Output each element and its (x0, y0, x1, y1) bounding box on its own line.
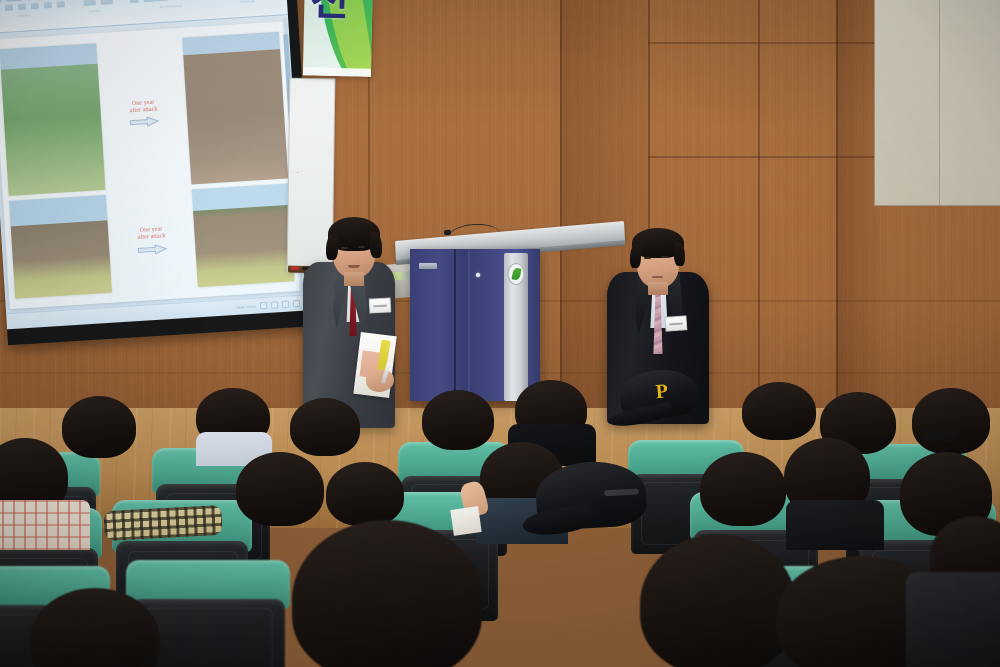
slide: One year after attack One year after att… (0, 21, 301, 309)
ribbon-group-label: Animations (159, 3, 182, 9)
speaker-left-eye (358, 246, 365, 248)
slide-photo-before-top (0, 43, 106, 196)
audience-head (326, 462, 404, 526)
ribbon-group-label: Review (240, 0, 255, 4)
reading-view-icon[interactable] (282, 301, 289, 308)
speaker-left-neck (344, 272, 364, 286)
speaker-left-eye (341, 247, 348, 249)
held-paper (450, 506, 481, 536)
speaker-right-neck (648, 282, 668, 295)
wall-seam (836, 0, 838, 430)
speaker-left-mouth (348, 265, 360, 268)
cap-strap (604, 489, 639, 497)
microphone-head-icon (444, 230, 451, 236)
statusbar-view-label: Slide Show (236, 304, 256, 310)
slide-canvas: One year after attack One year after att… (0, 15, 306, 313)
name-badge (665, 315, 688, 331)
acoustic-wall-panel (874, 0, 1000, 206)
wall-seam (758, 0, 760, 410)
leaf-shape (511, 267, 521, 280)
slide-photo-before-bottom (9, 195, 112, 299)
annotation-label: One year after attack (129, 99, 158, 115)
speaker-right-hair-side (630, 244, 641, 268)
audience-jacket (906, 572, 1000, 667)
wall-seam (560, 0, 562, 430)
ribbon-group-label: Insert (89, 8, 101, 14)
banner-bottom-edge (303, 67, 371, 76)
speaker-left-hair-side (326, 234, 338, 260)
sorter-view-icon[interactable] (271, 301, 278, 308)
badge-text-line (373, 304, 387, 307)
lectern (410, 249, 540, 401)
hanging-banner: 젼 (303, 0, 373, 77)
eyeglasses-icon (924, 429, 954, 440)
audience-head (62, 396, 136, 458)
slide-photo-after-bottom (192, 183, 295, 287)
projection-screen-surface: Home Insert Animations Review One year a… (0, 0, 307, 329)
name-badge (369, 297, 392, 313)
right-arrow-icon (137, 243, 168, 256)
cap-logo-letter: P (655, 380, 669, 404)
audience-head (422, 390, 494, 450)
speaker-right-mouth (652, 276, 663, 278)
audience-checkered-scarf (103, 505, 222, 541)
audience-head (290, 398, 360, 456)
audience-jacket (786, 500, 884, 550)
badge-text-line (669, 322, 683, 325)
normal-view-icon[interactable] (260, 302, 267, 309)
annotation-label: One year after attack (137, 226, 166, 242)
slide-annotation-bottom: One year after attack (111, 225, 192, 258)
speaker-right-eye (661, 256, 668, 258)
audience-head-long-hair (292, 520, 482, 667)
banner-character: 젼 (310, 0, 350, 22)
audience-head (912, 388, 990, 454)
audience-plaid-shirt (0, 500, 90, 550)
leaf-emblem-icon (508, 263, 525, 285)
audience-head (236, 452, 324, 526)
audience-head (742, 382, 816, 440)
podium-accent-strip (504, 253, 528, 401)
lecture-hall-photo: Home Insert Animations Review One year a… (0, 0, 1000, 667)
audience-head (700, 452, 786, 526)
slide-annotation-top: One year after attack (103, 97, 184, 130)
projection-screen-frame: Home Insert Animations Review One year a… (0, 0, 317, 345)
whiteboard-scribble: · ~ · (293, 170, 303, 176)
audience-head (640, 534, 796, 667)
slideshow-icon[interactable] (293, 300, 300, 307)
podium-button[interactable] (476, 273, 480, 277)
slide-photo-after-top (182, 32, 288, 185)
right-arrow-icon (129, 116, 160, 129)
speaker-right-eye (644, 257, 651, 259)
marker-red[interactable] (291, 267, 299, 270)
ribbon-group-label: Home (19, 12, 31, 18)
podium-nameplate (419, 263, 437, 269)
